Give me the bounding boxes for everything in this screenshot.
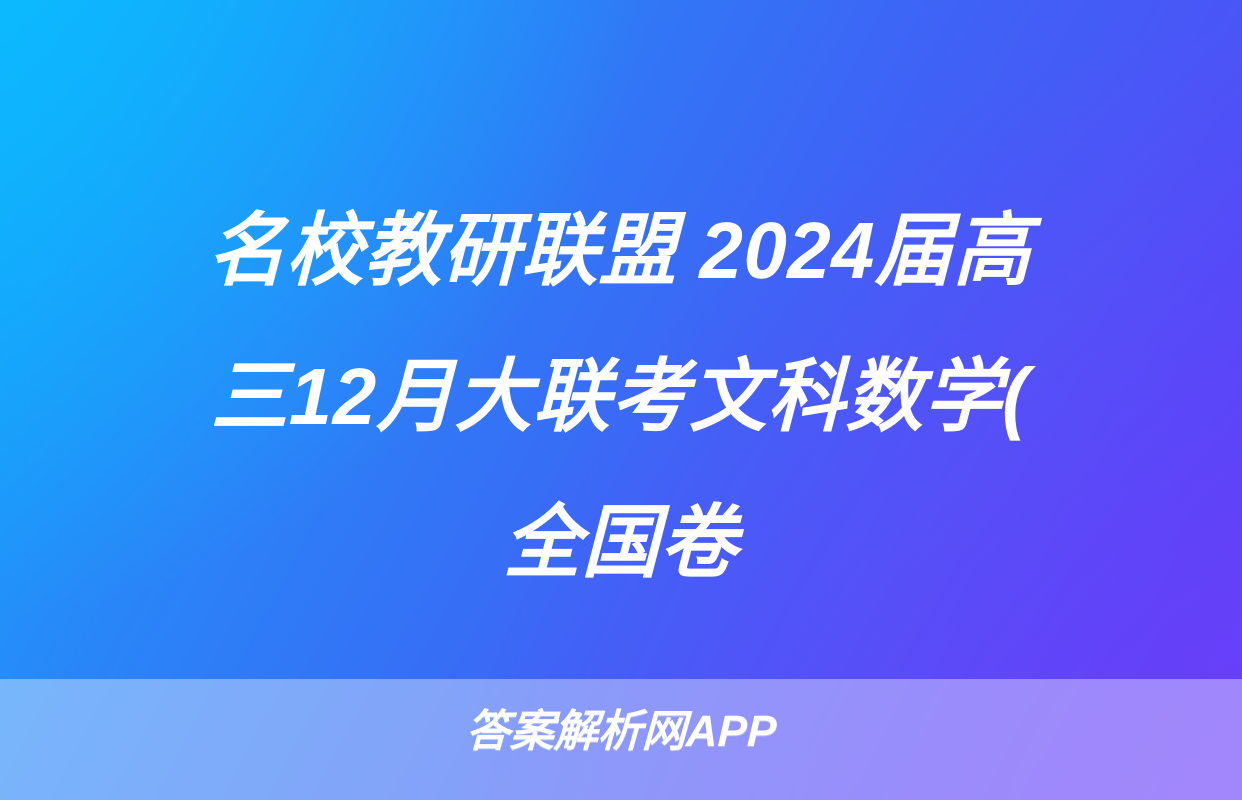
page-title-line-1: 名校教研联盟 2024届高 [20,178,1221,324]
watermark: 答案解析网APP [0,706,1242,758]
watermark-label: 答案解析网APP [465,706,777,758]
page-title: 名校教研联盟 2024届高 三12月大联考文科数学( 全国卷 [0,178,1242,616]
cover-image-canvas: 名校教研联盟 2024届高 三12月大联考文科数学( 全国卷 答案解析网APP [0,0,1242,800]
page-title-line-3: 全国卷 [20,470,1221,616]
page-title-line-2: 三12月大联考文科数学( [20,324,1221,470]
